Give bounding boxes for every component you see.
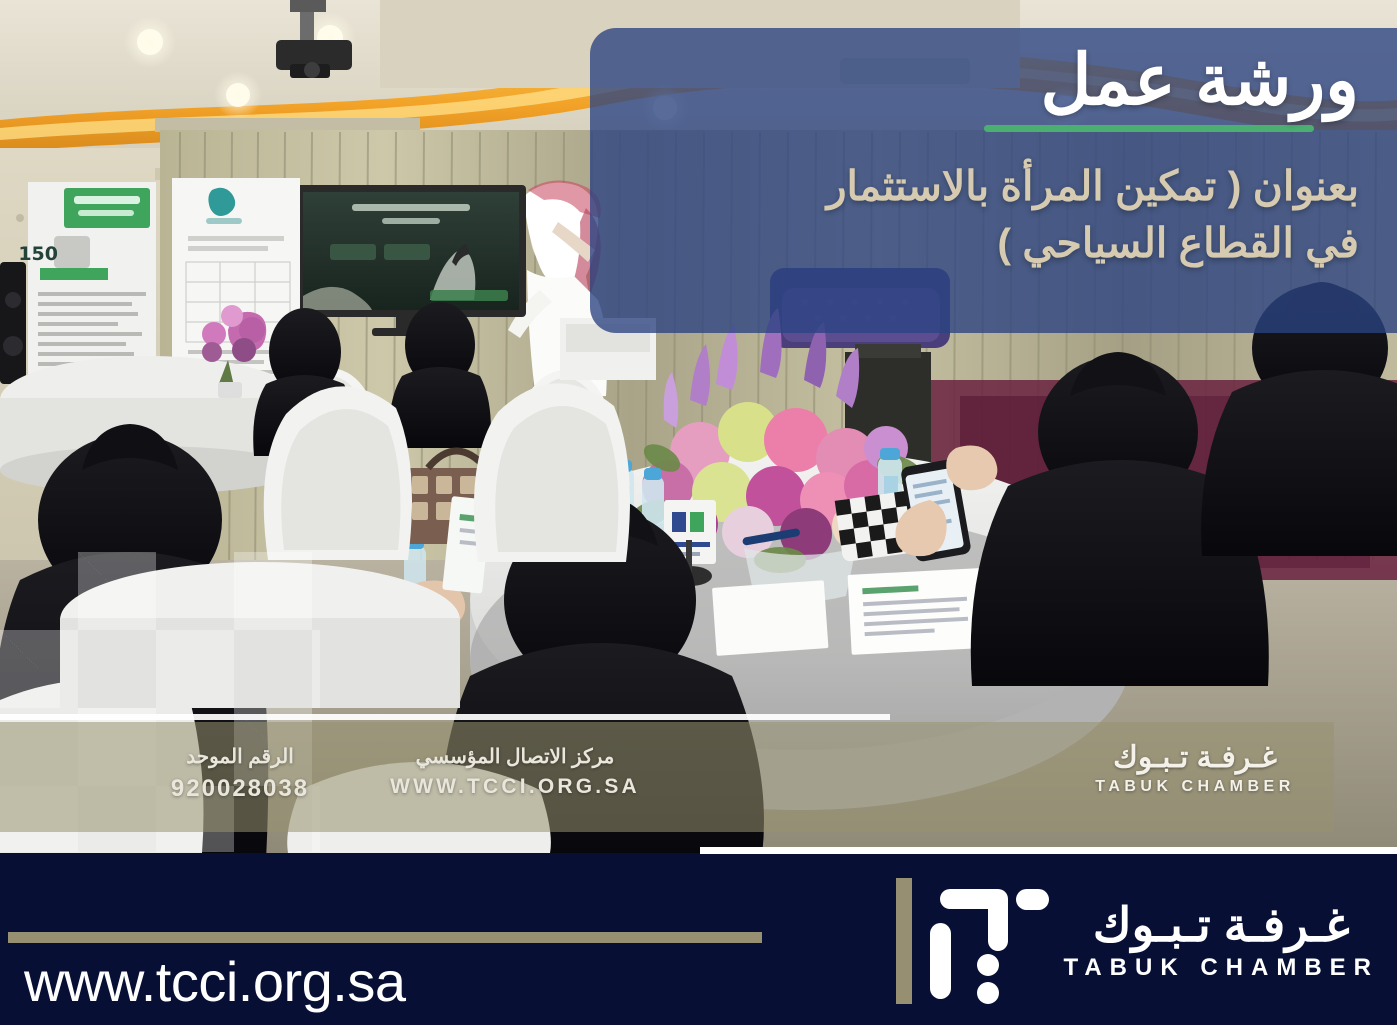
poster-root: 150	[0, 0, 1397, 1025]
footer-brand-english: TABUK CHAMBER	[1063, 954, 1379, 982]
footer-brand-text: غـرفـة تـبـوك TABUK CHAMBER	[1063, 900, 1379, 981]
footer-gold-rule	[8, 932, 762, 943]
footer-website-link[interactable]: www.tcci.org.sa	[24, 949, 406, 1014]
photo-divider-rule	[0, 714, 890, 720]
footer-top-sliver	[700, 847, 1397, 854]
footer-bar: www.tcci.org.sa غـرفـة تـبـوك TABUK CHAM…	[0, 853, 1397, 1025]
title-underline-rule	[984, 125, 1314, 132]
tabuk-chamber-logo-icon	[924, 875, 1049, 1007]
header-panel: ورشة عمل بعنوان ( تمكين المرأة بالاستثما…	[590, 28, 1397, 333]
workshop-subtitle-line2: في القطاع السياحي )	[638, 215, 1359, 272]
svg-text:150: 150	[18, 243, 58, 265]
footer-logo-gold-bar	[896, 878, 912, 1004]
footer-brand-lockup: غـرفـة تـبـوك TABUK CHAMBER	[896, 871, 1379, 1011]
footer-brand-arabic: غـرفـة تـبـوك	[1063, 900, 1379, 949]
page-title: ورشة عمل	[628, 42, 1359, 119]
workshop-subtitle: بعنوان ( تمكين المرأة بالاستثمار في القط…	[628, 158, 1359, 271]
workshop-subtitle-line1: بعنوان ( تمكين المرأة بالاستثمار	[638, 158, 1359, 215]
